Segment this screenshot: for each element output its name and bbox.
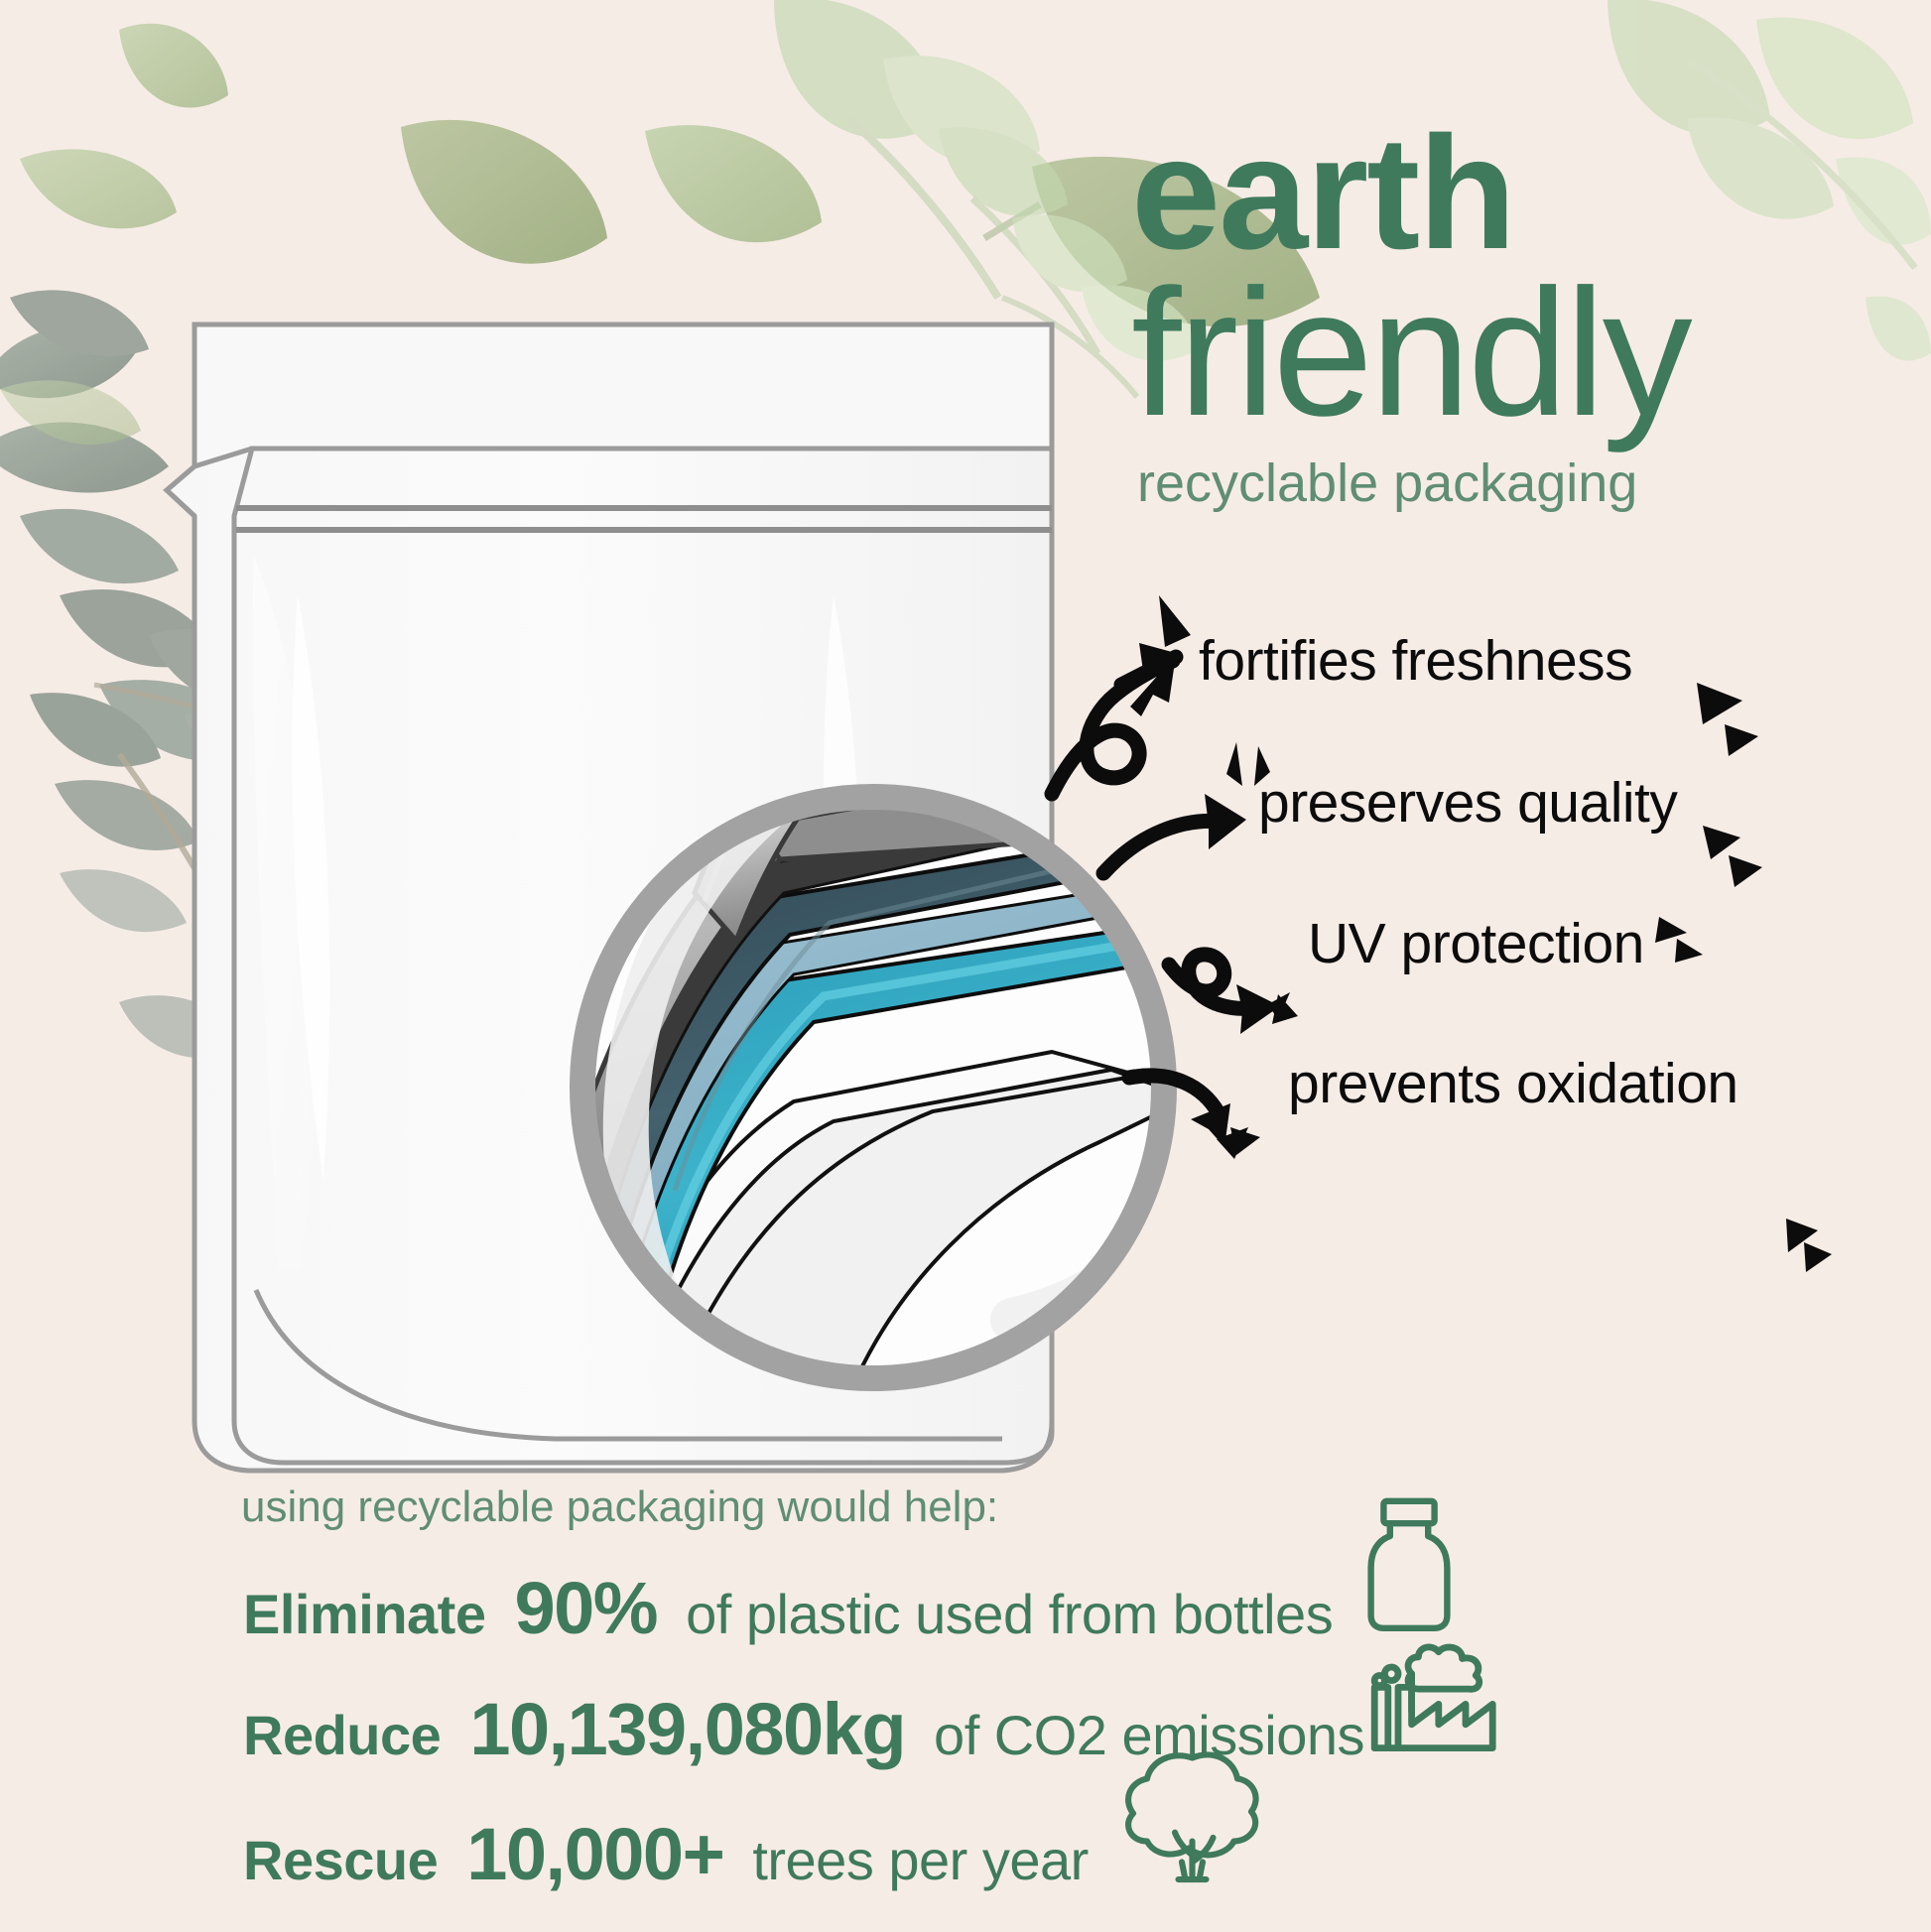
stat-lead-rescue: Rescue — [243, 1829, 438, 1891]
stat-lead-eliminate: Eliminate — [243, 1583, 485, 1645]
feature-label-prevents-oxidation: prevents oxidation — [1288, 1051, 1738, 1116]
stat-tail-trees: trees per year — [752, 1829, 1089, 1891]
factory-icon — [1348, 1600, 1516, 1768]
tree-icon — [1105, 1727, 1279, 1900]
stat-lead-reduce: Reduce — [243, 1704, 441, 1766]
feature-label-uv-protection: UV protection — [1308, 911, 1644, 976]
headline-subtitle: recyclable packaging — [1137, 452, 1925, 514]
headline-line-2: friendly — [1131, 267, 1925, 439]
stat-tail-plastic: of plastic used from bottles — [686, 1583, 1333, 1645]
stat-row-trees: Rescue 10,000+ trees per year — [243, 1812, 1089, 1896]
stats-intro-text: using recyclable packaging would help: — [241, 1482, 998, 1532]
feature-label-preserves-quality: preserves quality — [1258, 770, 1677, 836]
stat-value-co2-kg: 10,139,080kg — [469, 1688, 905, 1770]
stat-value-90-percent: 90% — [514, 1567, 657, 1649]
feature-label-fortifies-freshness: fortifies freshness — [1199, 628, 1632, 694]
headline-line-1: earth — [1131, 119, 1925, 267]
stat-value-trees: 10,000+ — [466, 1813, 723, 1895]
infographic-canvas: earth friendly recyclable packaging fort… — [0, 0, 1931, 1932]
headline-block: earth friendly recyclable packaging — [1131, 119, 1925, 514]
stat-row-plastic: Eliminate 90% of plastic used from bottl… — [243, 1566, 1333, 1650]
